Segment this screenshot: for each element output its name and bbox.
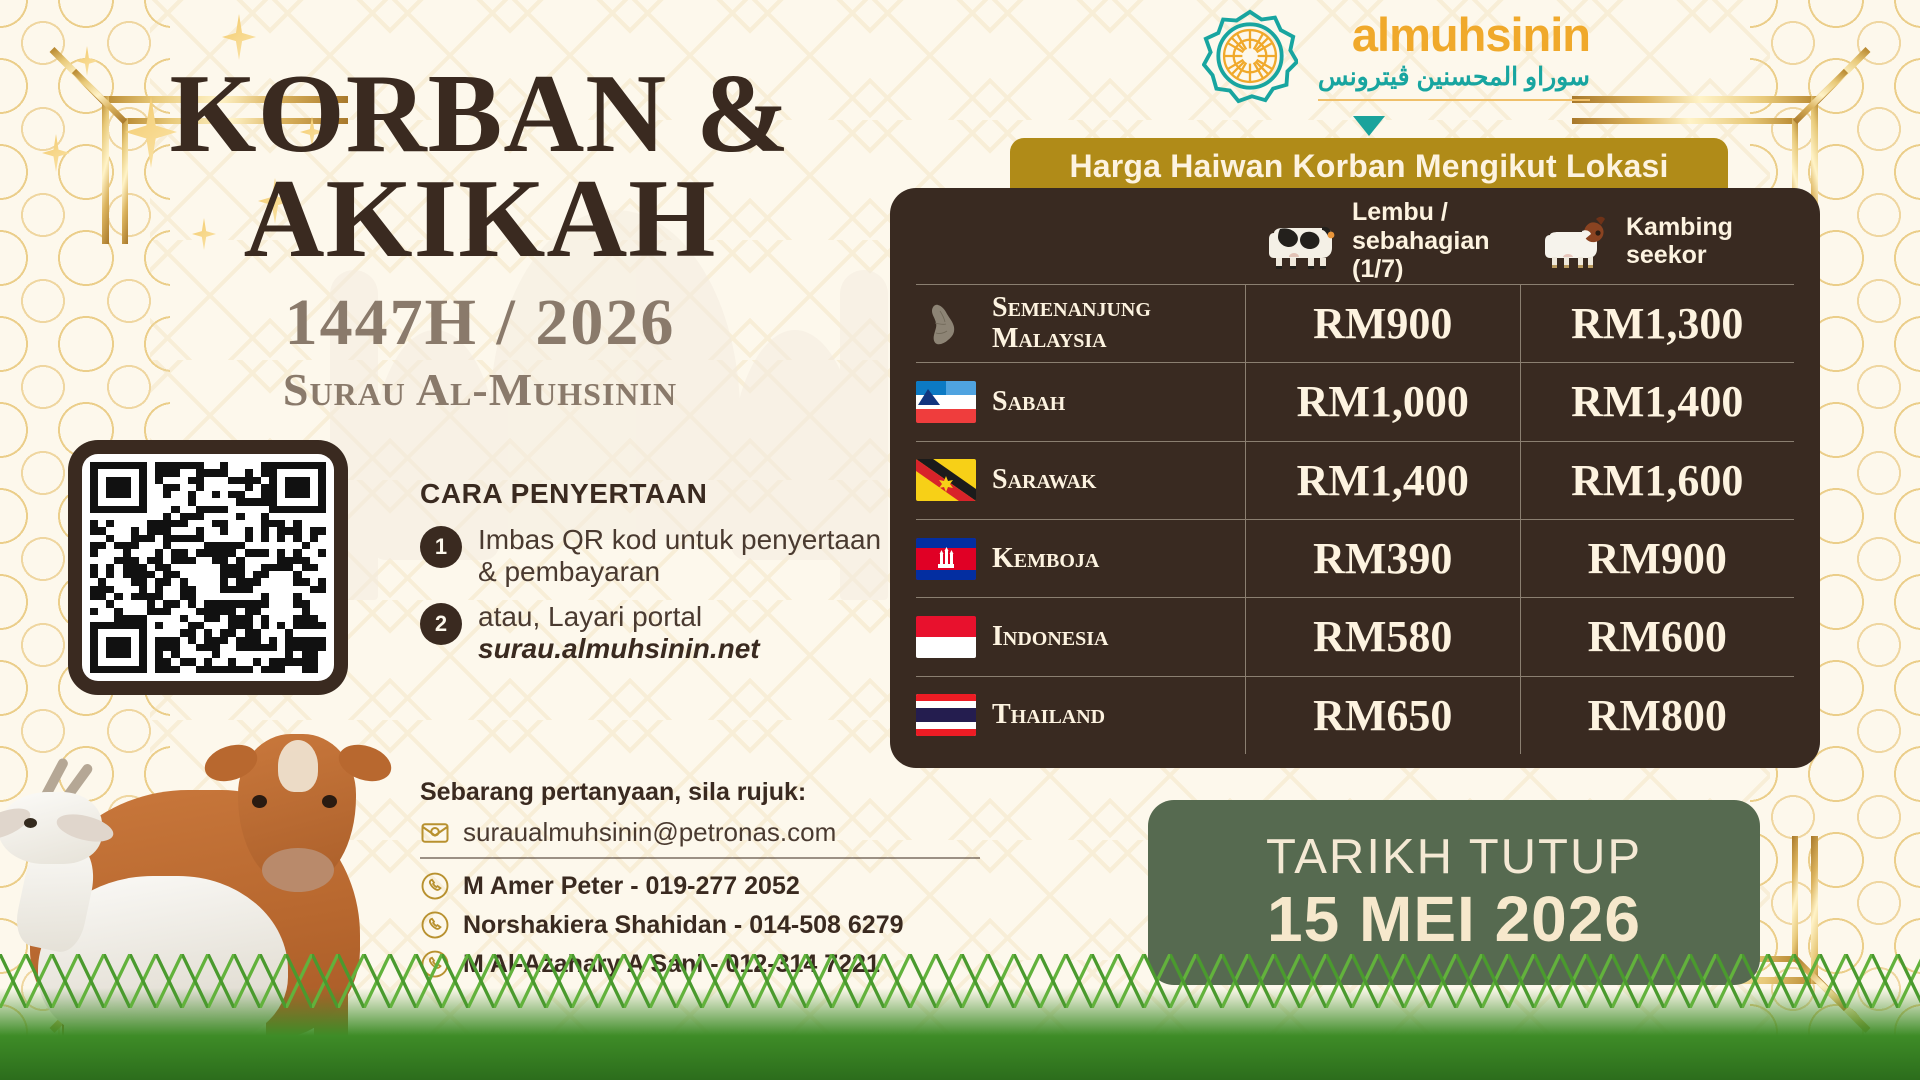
- contact-person-row[interactable]: Norshakiera Shahidan - 014-508 6279: [420, 910, 980, 940]
- title-year: 1447H / 2026: [100, 285, 860, 361]
- portal-url-link[interactable]: surau.almuhsinin.net: [478, 633, 760, 665]
- how-to-step: 1 Imbas QR kod untuk penyertaan & pembay…: [420, 524, 890, 589]
- price-table: Lembu / sebahagian (1/7) Kambing s: [890, 188, 1820, 768]
- contact-email[interactable]: suraualmuhsinin@petronas.com: [463, 817, 836, 848]
- column-header-cow-label: Lembu / sebahagian (1/7): [1352, 198, 1520, 284]
- row-location-cell: Indonesia: [916, 598, 1246, 675]
- row-location-label: Sabah: [992, 387, 1065, 417]
- column-header-goat: Kambing seekor: [1520, 213, 1794, 270]
- step-text: atau, Layari portal surau.almuhsinin.net: [478, 601, 760, 666]
- row-cow-price: RM390: [1246, 520, 1521, 597]
- contact-person[interactable]: M Amer Peter - 019-277 2052: [463, 872, 800, 901]
- row-location-cell: Thailand: [916, 677, 1246, 754]
- row-cow-price: RM650: [1246, 677, 1521, 754]
- sarawak-flag-icon: [916, 459, 976, 501]
- indonesia-flag-icon: [916, 616, 976, 658]
- row-cow-price: RM1,400: [1246, 442, 1521, 519]
- thailand-flag-icon: [916, 694, 976, 736]
- row-goat-price: RM1,600: [1521, 442, 1795, 519]
- step-text-label: atau, Layari portal: [478, 601, 702, 632]
- step-number-badge: 1: [420, 526, 462, 568]
- row-location-label: Thailand: [992, 700, 1105, 730]
- goat-icon: [1538, 213, 1612, 269]
- contact-person-row[interactable]: M Amer Peter - 019-277 2052: [420, 871, 980, 901]
- contact-divider: [420, 857, 980, 859]
- row-goat-price: RM1,300: [1521, 285, 1795, 362]
- how-to-title: CARA PENYERTAAN: [420, 478, 890, 510]
- price-table-header-text: Harga Haiwan Korban Mengikut Lokasi: [1069, 148, 1668, 185]
- rosette-mandala-icon: [1202, 8, 1298, 104]
- row-goat-price: RM1,400: [1521, 363, 1795, 440]
- column-header-cow: Lembu / sebahagian (1/7): [1246, 198, 1520, 284]
- contact-email-row[interactable]: suraualmuhsinin@petronas.com: [420, 817, 980, 848]
- table-row: Semenanjung Malaysia RM900 RM1,300: [916, 284, 1794, 362]
- logo-arabic-text: سوراو المحسنين ڤيترونس: [1318, 62, 1590, 92]
- step-text: Imbas QR kod untuk penyertaan & pembayar…: [478, 524, 890, 589]
- row-location-label: Indonesia: [992, 622, 1108, 652]
- row-location-label: Kemboja: [992, 544, 1099, 574]
- logo-wordmark: almuhsinin: [1318, 11, 1590, 58]
- contact-title: Sebarang pertanyaan, sila rujuk:: [420, 778, 980, 807]
- table-row: Kemboja RM390 RM900: [916, 519, 1794, 597]
- deadline-label: TARIKH TUTUP: [1266, 832, 1642, 883]
- row-cow-price: RM900: [1246, 285, 1521, 362]
- column-header-goat-label: Kambing seekor: [1626, 213, 1794, 270]
- logo-divider: [1318, 99, 1590, 101]
- phone-icon: [420, 910, 450, 940]
- phone-icon: [420, 871, 450, 901]
- row-goat-price: RM900: [1521, 520, 1795, 597]
- row-goat-price: RM800: [1521, 677, 1795, 754]
- row-goat-price: RM600: [1521, 598, 1795, 675]
- cambodia-flag-icon: [916, 538, 976, 580]
- row-location-cell: Sabah: [916, 363, 1246, 440]
- row-location-label: Semenanjung Malaysia: [992, 293, 1235, 353]
- contact-person[interactable]: Norshakiera Shahidan - 014-508 6279: [463, 911, 904, 940]
- peninsular-malaysia-map-icon: [916, 303, 976, 345]
- qr-modules: [90, 462, 326, 673]
- cow-icon: [1264, 213, 1338, 269]
- table-row: Sabah RM1,000 RM1,400: [916, 362, 1794, 440]
- price-table-header-banner: Harga Haiwan Korban Mengikut Lokasi: [1010, 138, 1728, 194]
- deadline-date: 15 MEI 2026: [1267, 886, 1641, 953]
- row-cow-price: RM580: [1246, 598, 1521, 675]
- page-title-line1: KORBAN &: [100, 62, 860, 167]
- poster-canvas: KORBAN & AKIKAH 1447H / 2026 Surau Al-Mu…: [0, 0, 1920, 1080]
- how-to-step: 2 atau, Layari portal surau.almuhsinin.n…: [420, 601, 890, 666]
- table-row: Thailand RM650 RM800: [916, 676, 1794, 754]
- row-location-label: Sarawak: [992, 465, 1096, 495]
- email-icon: [420, 818, 450, 848]
- sabah-flag-icon: [916, 381, 976, 423]
- price-table-column-headers: Lembu / sebahagian (1/7) Kambing s: [916, 198, 1794, 284]
- how-to-participate-section: CARA PENYERTAAN 1 Imbas QR kod untuk pen…: [420, 478, 890, 678]
- step-number-badge: 2: [420, 603, 462, 645]
- table-row: Sarawak RM1,400 RM1,600: [916, 441, 1794, 519]
- title-organization: Surau Al-Muhsinin: [100, 363, 860, 416]
- table-row: Indonesia RM580 RM600: [916, 597, 1794, 675]
- headline-block: KORBAN & AKIKAH 1447H / 2026 Surau Al-Mu…: [100, 62, 860, 416]
- page-title-line2: AKIKAH: [100, 167, 860, 272]
- row-location-cell: Semenanjung Malaysia: [916, 285, 1246, 362]
- price-table-body: Semenanjung Malaysia RM900 RM1,300: [916, 284, 1794, 754]
- row-cow-price: RM1,000: [1246, 363, 1521, 440]
- row-location-cell: Sarawak: [916, 442, 1246, 519]
- grass-strip: [0, 988, 1920, 1080]
- almuhsinin-logo: almuhsinin سوراو المحسنين ڤيترونس: [1202, 8, 1590, 104]
- qr-code-image: [82, 454, 334, 681]
- row-location-cell: Kemboja: [916, 520, 1246, 597]
